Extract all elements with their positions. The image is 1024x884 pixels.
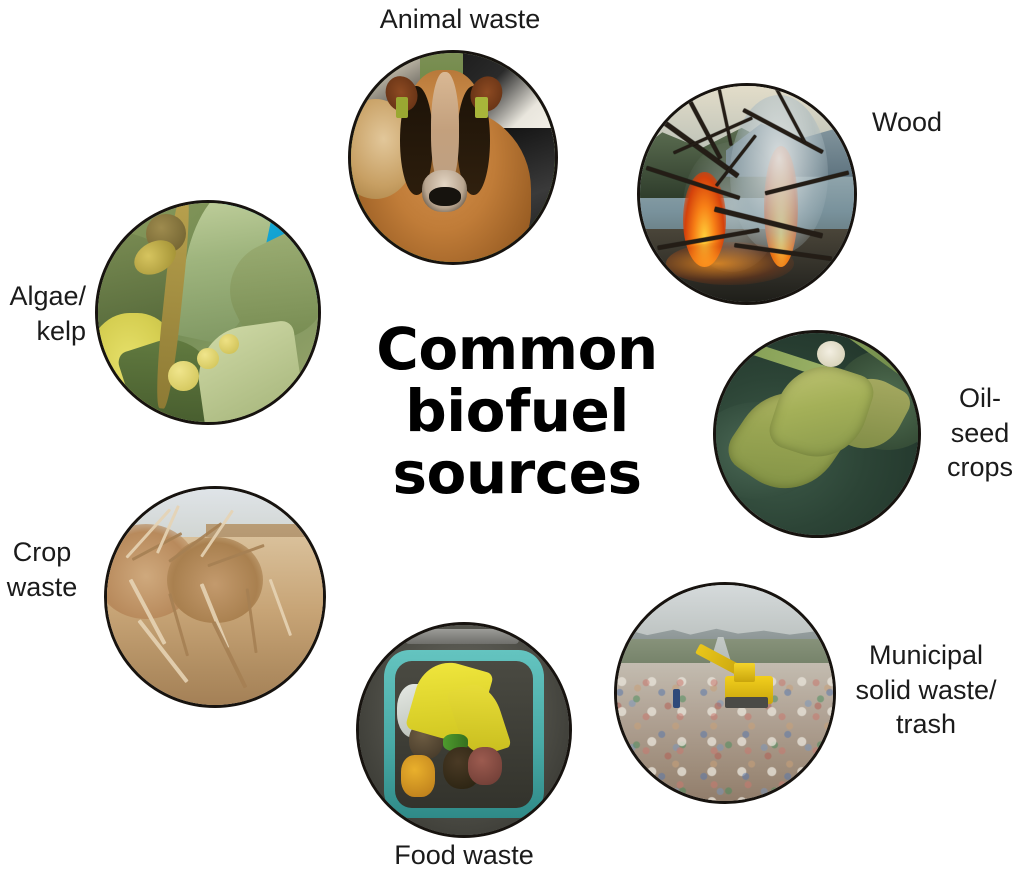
image-circle-crop-waste xyxy=(104,486,326,708)
image-circle-animal-waste xyxy=(348,50,558,265)
photo-dry-corn-stover xyxy=(107,489,323,705)
photo-landfill-with-excavator xyxy=(617,585,833,801)
label-algae-kelp: Algae/ kelp xyxy=(0,279,86,348)
image-circle-municipal-solid-waste xyxy=(614,582,836,804)
label-animal-waste: Animal waste xyxy=(344,2,576,37)
photo-cow-in-pasture xyxy=(351,53,555,262)
image-circle-food-waste xyxy=(356,622,572,838)
photo-burning-brush-piles xyxy=(640,86,854,302)
image-circle-oilseed-crops xyxy=(713,330,921,538)
label-wood: Wood xyxy=(872,105,1012,140)
photo-food-waste-caddy-bin xyxy=(359,625,569,835)
label-food-waste: Food waste xyxy=(360,838,568,873)
photo-giant-kelp-underwater xyxy=(98,203,318,422)
label-municipal-solid-waste: Municipal solid waste/ trash xyxy=(838,638,1014,742)
image-circle-wood xyxy=(637,83,857,305)
label-oilseed-crops: Oil- seed crops xyxy=(936,381,1024,485)
label-crop-waste: Crop waste xyxy=(0,535,84,604)
photo-soybean-pods xyxy=(716,333,918,535)
image-circle-algae-kelp xyxy=(95,200,321,425)
page-title: Common biofuel sources xyxy=(352,318,682,504)
